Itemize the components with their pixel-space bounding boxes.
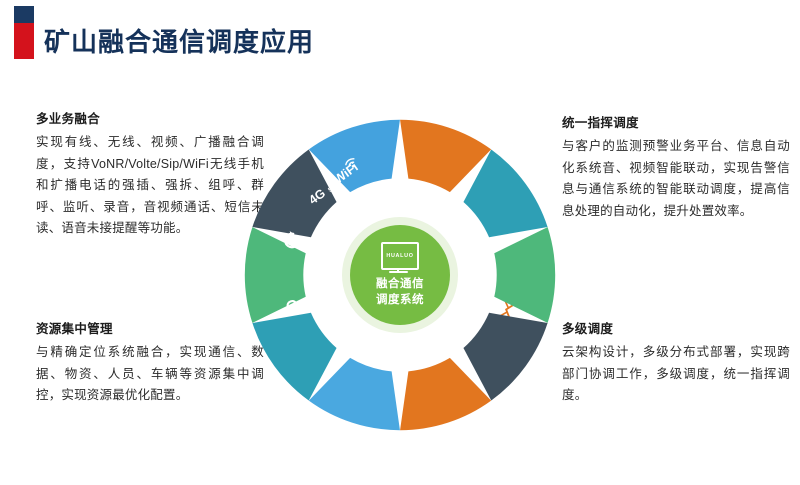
segment-label: 广播调度 (425, 190, 471, 229)
title-red-marker (14, 23, 34, 59)
block-heading: 资源集中管理 (36, 318, 264, 337)
feature-block-resource-management: 资源集中管理 与精确定位系统融合，实现通信、数据、物资、人员、车辆等资源集中调控… (36, 318, 264, 407)
hub-title-line2: 调度系统 (376, 293, 424, 309)
segment-label: 无线调度 (327, 188, 374, 227)
block-body: 实现有线、无线、视频、广播融合调度，支持VoNR/Volte/Sip/WiFi无… (36, 132, 264, 240)
feature-block-unified-command: 统一指挥调度 与客户的监测预警业务平台、信息自动化系统音、视频智能联动，实现告警… (562, 112, 790, 222)
block-body: 云架构设计，多级分布式部署，实现跨部门协调工作，多级调度，统一指挥调度。 (562, 342, 790, 407)
block-heading: 多业务融合 (36, 108, 264, 127)
segment-label: 资源调度 (377, 349, 423, 363)
segment-label: 视频调度 (463, 226, 491, 275)
segment-label: 交互调度 (309, 225, 337, 274)
hub-center[interactable]: HUALUO 融合通信 调度系统 (350, 225, 450, 325)
feature-block-multi-service: 多业务融合 实现有线、无线、视频、广播融合调度，支持VoNR/Volte/Sip… (36, 108, 264, 240)
block-heading: 多级调度 (562, 318, 790, 337)
segment-label: GIS调度 (426, 322, 470, 359)
page-title: 矿山融合通信调度应用 (44, 22, 314, 59)
segment-label: 短信调度 (463, 276, 491, 325)
title-bar: 矿山融合通信调度应用 (0, 0, 800, 78)
segment-label: 有线调度 (377, 187, 423, 201)
feature-block-multi-level: 多级调度 云架构设计，多级分布式部署，实现跨部门协调工作，多级调度，统一指挥调度… (562, 318, 790, 407)
hub-title-line1: 融合通信 (376, 277, 424, 293)
hub-brand: HUALUO (386, 253, 413, 259)
donut-diagram: 有线调度 广播调度 视频调度 短信调度 GIS GIS调度 (240, 115, 560, 435)
block-heading: 统一指挥调度 (562, 112, 790, 131)
block-body: 与客户的监测预警业务平台、信息自动化系统音、视频智能联动，实现告警信息与通信系统… (562, 136, 790, 222)
monitor-icon: HUALUO (381, 242, 419, 274)
segment-label: 接口调度 (309, 276, 337, 325)
segment-label: 语音调度 (329, 321, 375, 360)
title-navy-marker (14, 6, 34, 23)
block-body: 与精确定位系统融合，实现通信、数据、物资、人员、车辆等资源集中调控，实现资源最优… (36, 342, 264, 407)
